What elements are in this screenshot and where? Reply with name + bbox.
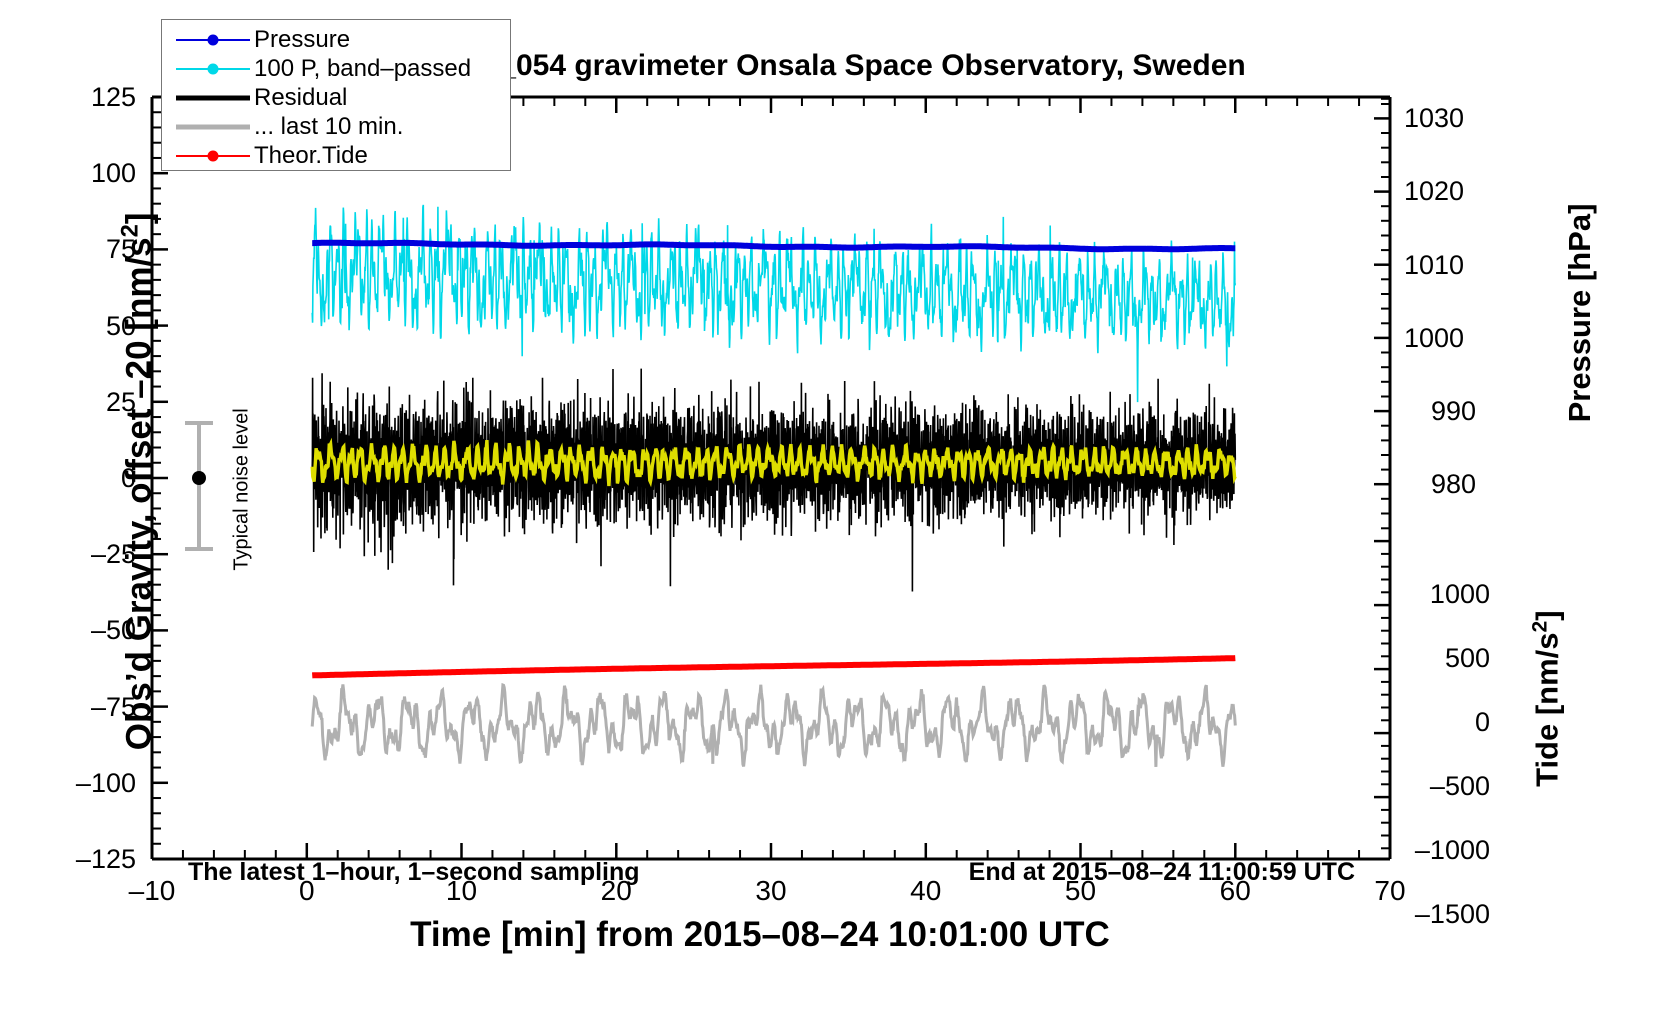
y-tick-left-3: 50 [26,313,136,340]
y-tick-right-tide-4: –1000 [1404,837,1490,864]
y-tick-left-2: 75 [26,236,136,263]
gravimeter-plot-figure: SCG_054 gravimeter Onsala Space Observat… [0,0,1660,1020]
legend-marker-dot-icon-0 [208,34,219,45]
legend-label-2: Residual [254,86,347,110]
legend-label-3: ... last 10 min. [254,115,403,139]
y-axis-right-tide-title-tail: ] [1530,610,1565,620]
y-tick-right-tide-3: –500 [1404,773,1490,800]
series-last-10-min [312,684,1235,767]
y-tick-left-6: –25 [26,541,136,568]
y-tick-left-0: 125 [26,84,136,111]
caption-sampling: The latest 1–hour, 1–second sampling [188,858,640,887]
typical-noise-level-errorbar [185,423,213,549]
legend-item-4[interactable]: Theor.Tide [162,141,510,170]
y-axis-right-ticks [1374,99,1390,859]
legend-item-0[interactable]: Pressure [162,25,510,54]
y-tick-left-8: –75 [26,694,136,721]
legend-swatch-icon-4 [172,144,254,168]
y-tick-right-pressure-0: 1030 [1404,105,1476,132]
y-tick-right-pressure-2: 1010 [1404,252,1476,279]
y-tick-right-pressure-1: 1020 [1404,178,1476,205]
legend-swatch-icon-2 [172,86,254,110]
y-tick-right-tide-1: 500 [1404,645,1490,672]
series-bandpassed-pressure [312,205,1235,402]
y-tick-right-tide-2: 0 [1404,709,1490,736]
x-axis-title: Time [min] from 2015–08–24 10:01:00 UTC [0,915,1520,955]
y-tick-left-7: –50 [26,617,136,644]
series-residual [312,369,1235,592]
y-axis-right-tide-title: Tide [nm/s2] [1528,534,1565,864]
y-axis-right-tide-title-text: Tide [nm/s [1530,632,1565,786]
y-tick-right-pressure-5: 980 [1404,471,1476,498]
series-theor-tide [312,658,1235,675]
y-tick-right-pressure-4: 990 [1404,398,1476,425]
legend-marker-dot-icon-4 [208,150,219,161]
legend-label-0: Pressure [254,28,350,52]
legend-swatch-icon-1 [172,57,254,81]
y-tick-left-10: –125 [26,846,136,873]
legend-item-2[interactable]: Residual [162,83,510,112]
legend-label-4: Theor.Tide [254,144,368,168]
legend-swatch-icon-3 [172,115,254,139]
legend-label-1: 100 P, band–passed [254,57,471,81]
y-tick-right-pressure-3: 1000 [1404,325,1476,352]
caption-end-time: End at 2015–08–24 11:00:59 UTC [969,858,1355,887]
legend-marker-dot-icon-1 [208,63,219,74]
legend-swatch-icon-0 [172,28,254,52]
y-axis-right-tide-title-sup: 2 [1528,621,1551,633]
y-tick-right-tide-0: 1000 [1404,581,1490,608]
y-tick-left-4: 25 [26,389,136,416]
y-tick-left-1: 100 [26,160,136,187]
typical-noise-level-label: Typical noise level [231,380,254,600]
y-axis-left-title-tail: ] [119,212,158,224]
y-tick-left-5: 0 [26,465,136,492]
legend: Pressure100 P, band–passedResidual... la… [161,19,511,171]
x-tick-4: 30 [711,877,831,905]
y-axis-right-pressure-title: Pressure [hPa] [1562,113,1598,513]
legend-item-3[interactable]: ... last 10 min. [162,112,510,141]
legend-item-1[interactable]: 100 P, band–passed [162,54,510,83]
y-tick-left-9: –100 [26,770,136,797]
